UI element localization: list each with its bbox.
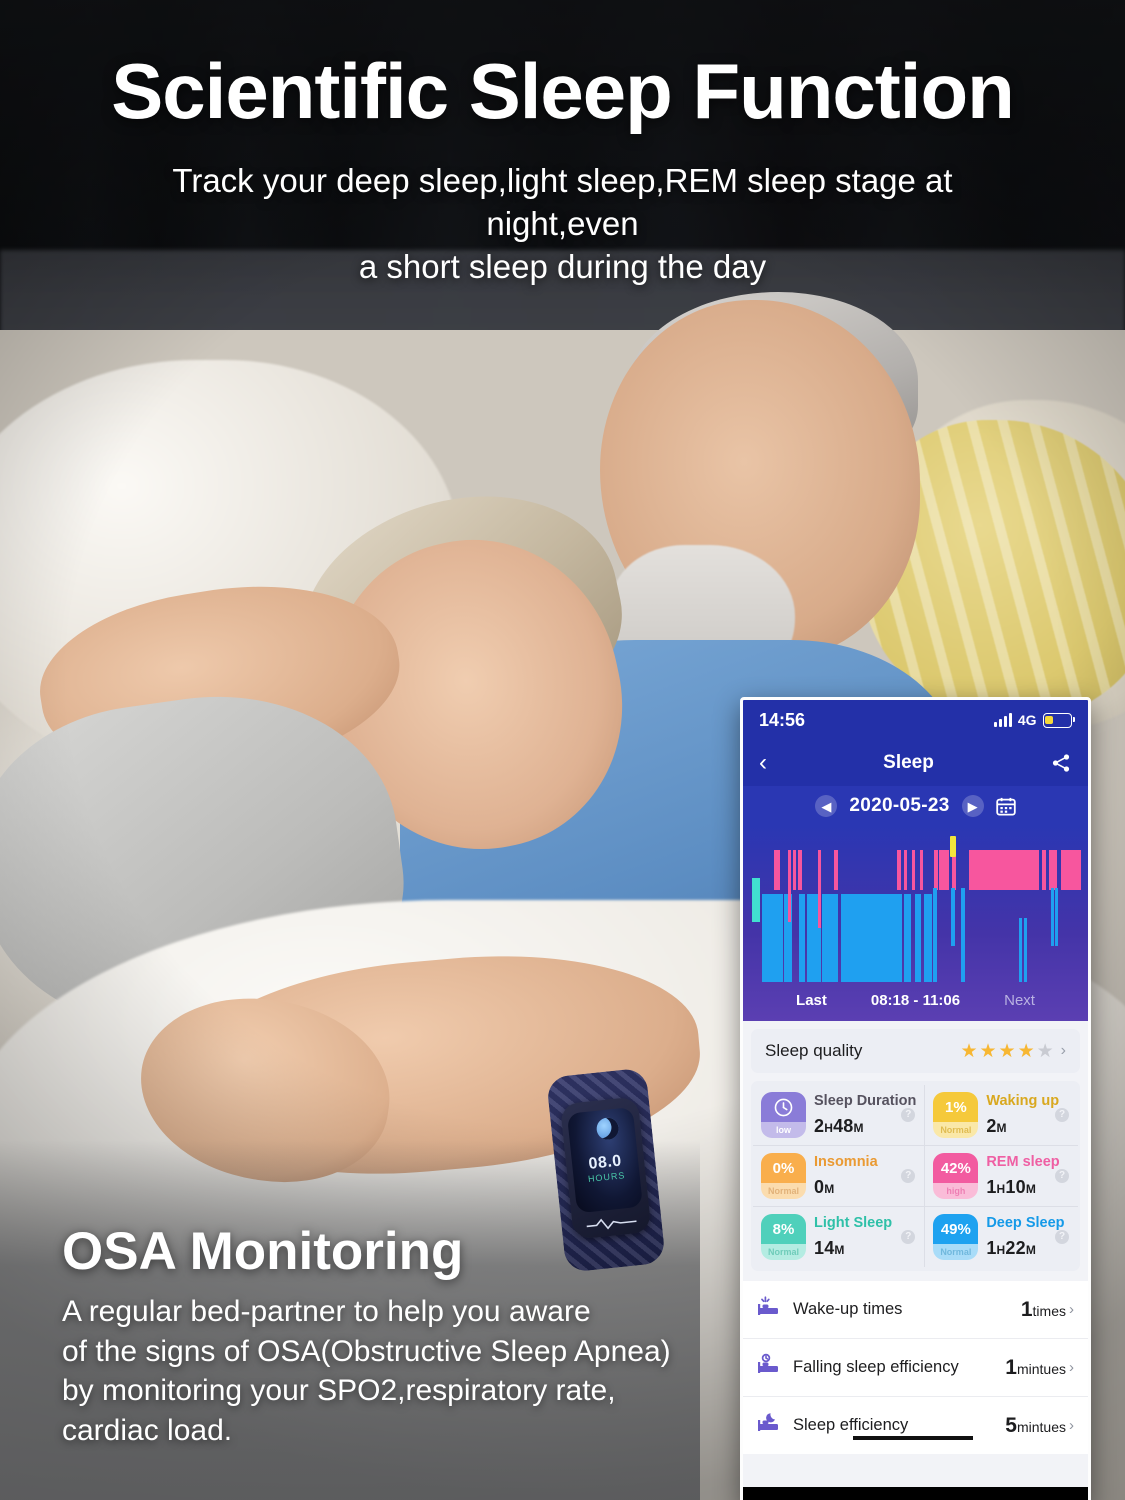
page-title: Sleep: [883, 752, 934, 774]
selected-date[interactable]: 2020-05-23: [849, 795, 949, 817]
hypnogram-segment-deep: [1055, 888, 1058, 946]
osa-line-3: by monitoring your SPO2,respiratory rate…: [62, 1371, 702, 1411]
metric-badge: 8%Normal: [761, 1214, 806, 1260]
subheadline-line-1: Track your deep sleep,light sleep,REM sl…: [110, 160, 1015, 246]
hypnogram-segment-deep: [951, 888, 955, 946]
chart-time-navigator: Last 08:18 - 11:06 Next: [743, 979, 1088, 1021]
list-item-label: Sleep efficiency: [793, 1416, 1005, 1435]
osa-section-title: OSA Monitoring: [62, 1225, 702, 1278]
hypnogram-segment-light: [752, 878, 761, 922]
hypnogram-segment-rem: [939, 850, 949, 890]
star-icon[interactable]: ★: [1037, 1040, 1054, 1063]
page-subheadline: Track your deep sleep,light sleep,REM sl…: [110, 160, 1015, 289]
hypnogram-segment-deep: [1019, 918, 1022, 982]
subheadline-line-2: a short sleep during the day: [110, 246, 1015, 289]
hypnogram-segment-rem: [1042, 850, 1046, 890]
metric-level-label: Normal: [761, 1183, 806, 1199]
star-icon[interactable]: ★: [960, 1040, 977, 1063]
hypnogram-segment-deep: [915, 894, 922, 982]
metric-name: Light Sleep: [814, 1215, 892, 1232]
metric-name: Sleep Duration: [814, 1093, 916, 1110]
metric-level-label: Normal: [761, 1244, 806, 1260]
metric-value: 1H22M: [986, 1238, 1064, 1259]
hypnogram-segment-deep: [841, 894, 899, 982]
home-indicator-bar: [743, 1487, 1088, 1500]
metric-name: Insomnia: [814, 1154, 878, 1171]
sleep-quality-label: Sleep quality: [765, 1041, 862, 1061]
hypnogram-segment-rem: [818, 850, 821, 928]
hypnogram-segment-deep: [898, 894, 902, 982]
metric-level-label: Normal: [933, 1244, 978, 1260]
metric-card[interactable]: 42%highREM sleep1H10M?: [924, 1145, 1078, 1206]
chevron-right-icon[interactable]: ›: [1069, 1359, 1074, 1376]
info-icon[interactable]: ?: [901, 1230, 915, 1244]
chevron-left-circle-icon[interactable]: ◀: [815, 795, 837, 817]
date-navigator: ◀ 2020-05-23 ▶: [743, 786, 1088, 826]
osa-line-4: cardiac load.: [62, 1411, 702, 1451]
calendar-icon[interactable]: [996, 797, 1016, 816]
hypnogram-segment-deep: [904, 894, 911, 982]
battery-low-icon: [1043, 713, 1073, 728]
metric-name: Waking up: [986, 1093, 1059, 1110]
star-icon[interactable]: ★: [979, 1040, 996, 1063]
list-item-value: 1mintues: [1005, 1356, 1066, 1380]
metric-value: 1H10M: [986, 1177, 1059, 1198]
clock-icon: [761, 1092, 806, 1122]
chevron-right-icon[interactable]: ›: [1069, 1417, 1074, 1434]
status-bar: 14:56 4G: [743, 700, 1088, 740]
list-item[interactable]: Sleep efficiency5mintues›: [743, 1397, 1088, 1454]
hypnogram-segment-rem: [788, 850, 791, 922]
hypnogram-segment-rem: [897, 850, 901, 890]
hypnogram-segment-deep: [822, 894, 837, 982]
star-icon[interactable]: ★: [999, 1040, 1016, 1063]
bed-moon-icon: [757, 1411, 781, 1440]
metric-name: REM sleep: [986, 1154, 1059, 1171]
sleep-quality-row[interactable]: Sleep quality ★★★★★ ›: [751, 1029, 1080, 1073]
list-item-label: Wake-up times: [793, 1300, 1021, 1319]
chart-next-button[interactable]: Next: [1004, 992, 1035, 1009]
info-icon[interactable]: ?: [901, 1169, 915, 1183]
app-nav-bar: ‹ Sleep: [743, 740, 1088, 786]
info-icon[interactable]: ?: [1055, 1169, 1069, 1183]
status-time: 14:56: [759, 710, 805, 731]
metric-card[interactable]: lowSleep Duration2H48M?: [753, 1085, 924, 1145]
list-item-value: 5mintues: [1005, 1414, 1066, 1438]
metric-card[interactable]: 0%NormalInsomnia0M?: [753, 1145, 924, 1206]
chevron-right-icon[interactable]: ›: [1061, 1042, 1066, 1060]
hypnogram-segment-deep: [961, 888, 966, 982]
metric-percent: 1%: [933, 1092, 978, 1122]
hypnogram-segment-deep: [1051, 888, 1054, 946]
metric-badge: 1%Normal: [933, 1092, 978, 1138]
hypnogram-segment-deep: [933, 888, 936, 982]
hypnogram-segment-deep: [799, 894, 806, 982]
sleep-details-list: Wake-up times1times›Falling sleep effici…: [743, 1281, 1088, 1454]
share-icon[interactable]: [1050, 752, 1072, 774]
hypnogram-awake-marker: [950, 836, 956, 857]
hypnogram-segment-rem: [920, 850, 923, 890]
metric-value: 14M: [814, 1238, 892, 1259]
metric-percent: 49%: [933, 1214, 978, 1244]
metric-value: 0M: [814, 1177, 878, 1198]
signal-bars-icon: [994, 713, 1012, 727]
metric-value: 2M: [986, 1116, 1059, 1137]
metric-badge: 0%Normal: [761, 1153, 806, 1199]
hypnogram-segment-deep: [762, 894, 783, 982]
info-icon[interactable]: ?: [1055, 1230, 1069, 1244]
osa-section-body: A regular bed-partner to help you aware …: [62, 1292, 702, 1450]
list-item[interactable]: Wake-up times1times›: [743, 1281, 1088, 1339]
bed-wake-icon: [757, 1295, 781, 1324]
metric-percent: 0%: [761, 1153, 806, 1183]
metric-percent: 42%: [933, 1153, 978, 1183]
hypnogram-segment-rem: [798, 850, 802, 890]
hypnogram-segment-rem: [834, 850, 838, 890]
metric-badge: low: [761, 1092, 806, 1138]
hypnogram-segment-rem: [934, 850, 938, 890]
metric-card[interactable]: 8%NormalLight Sleep14M?: [753, 1206, 924, 1267]
list-item[interactable]: Falling sleep efficiency1mintues›: [743, 1339, 1088, 1397]
hypnogram-segment-rem: [793, 850, 796, 890]
hypnogram-segment-rem: [912, 850, 916, 890]
chart-time-range: 08:18 - 11:06: [871, 992, 960, 1009]
chevron-right-icon[interactable]: ›: [1069, 1301, 1074, 1318]
bed-clock-icon: [757, 1353, 781, 1382]
osa-line-1: A regular bed-partner to help you aware: [62, 1292, 702, 1332]
hypnogram-segment-deep: [1024, 918, 1027, 982]
chart-prev-button[interactable]: Last: [796, 992, 827, 1009]
metric-level-label: high: [933, 1183, 978, 1199]
star-rating: ★★★★★: [960, 1040, 1053, 1063]
moon-icon: [596, 1117, 620, 1141]
network-type-label: 4G: [1018, 712, 1037, 728]
watch-screen: 08.0 HOURS: [567, 1107, 643, 1213]
info-icon[interactable]: ?: [1055, 1108, 1069, 1122]
sleep-metrics-grid: lowSleep Duration2H48M?1%NormalWaking up…: [751, 1081, 1080, 1271]
metric-card[interactable]: 49%NormalDeep Sleep1H22M?: [924, 1206, 1078, 1267]
metric-name: Deep Sleep: [986, 1215, 1064, 1232]
hypnogram-segment-rem: [904, 850, 907, 890]
chevron-left-icon[interactable]: ‹: [759, 751, 767, 775]
sleep-hypnogram-chart: Last 08:18 - 11:06 Next: [743, 826, 1088, 1021]
hypnogram-segment-deep: [924, 894, 932, 982]
redaction-bar: [853, 1436, 973, 1440]
metric-level-label: low: [761, 1122, 806, 1138]
list-item-value: 1times: [1021, 1298, 1066, 1322]
hypnogram-segment-rem: [969, 850, 1039, 890]
metric-badge: 42%high: [933, 1153, 978, 1199]
metric-level-label: Normal: [933, 1122, 978, 1138]
phone-mockup: 14:56 4G ‹ Sleep ◀: [740, 697, 1091, 1500]
osa-line-2: of the signs of OSA(Obstructive Sleep Ap…: [62, 1332, 702, 1372]
metric-value: 2H48M: [814, 1116, 916, 1137]
hypnogram-segment-rem: [1049, 850, 1057, 890]
hypnogram-plot-area: [749, 832, 1082, 982]
metric-badge: 49%Normal: [933, 1214, 978, 1260]
metric-card[interactable]: 1%NormalWaking up2M?: [924, 1085, 1078, 1145]
hypnogram-segment-rem: [774, 850, 780, 890]
chevron-right-circle-icon[interactable]: ▶: [962, 795, 984, 817]
metric-percent: 8%: [761, 1214, 806, 1244]
list-item-label: Falling sleep efficiency: [793, 1358, 1005, 1377]
star-icon[interactable]: ★: [1018, 1040, 1035, 1063]
hypnogram-segment-rem: [1061, 850, 1081, 890]
page-headline: Scientific Sleep Function: [0, 52, 1125, 130]
